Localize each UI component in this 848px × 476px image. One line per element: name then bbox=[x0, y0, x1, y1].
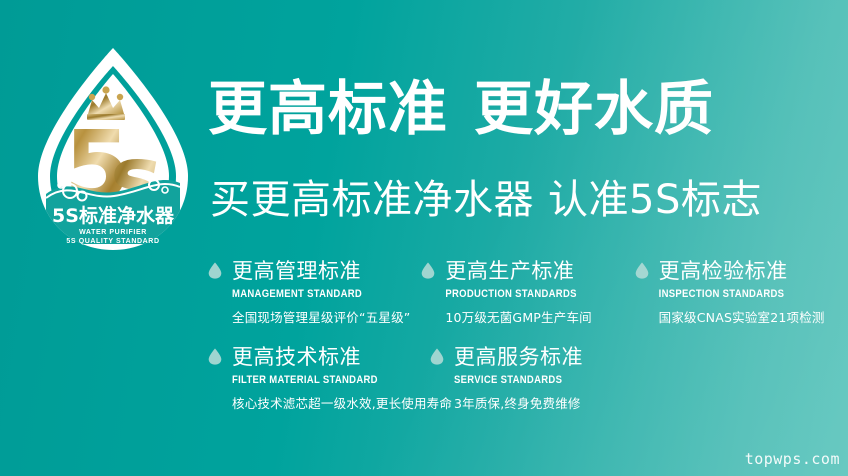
subheadline-part2: 认准5S标志 bbox=[548, 177, 762, 223]
feature-subtitle: INSPECTION STANDARDS bbox=[659, 288, 844, 300]
feature-title: 更高技术标准 bbox=[232, 341, 361, 371]
feature-item-inspection: 更高检验标准 INSPECTION STANDARDS 国家级CNAS实验室21… bbox=[635, 256, 848, 326]
feature-subtitle: MANAGEMENT STANDARD bbox=[232, 288, 417, 300]
feature-description: 全国现场管理星级评价“五星级” bbox=[232, 307, 417, 326]
feature-item-management: 更高管理标准 MANAGEMENT STANDARD 全国现场管理星级评价“五星… bbox=[208, 256, 421, 326]
water-drop-bullet-icon bbox=[430, 348, 444, 365]
feature-title: 更高生产标准 bbox=[445, 255, 574, 285]
subheadline: 买更高标准净水器认准5S标志 bbox=[210, 180, 762, 220]
headline-part2: 更好水质 bbox=[474, 74, 714, 143]
feature-subtitle: SERVICE STANDARDS bbox=[454, 374, 642, 386]
water-drop-shield-icon: 5 s 5S标准净水器 WATER PURIFIER 5S QUALITY ST… bbox=[18, 44, 208, 256]
brand-logo: 5 s 5S标准净水器 WATER PURIFIER 5S QUALITY ST… bbox=[18, 44, 208, 256]
feature-head: 更高技术标准 bbox=[208, 342, 426, 370]
feature-row-2: 更高技术标准 FILTER MATERIAL STANDARD 核心技术滤芯超一… bbox=[208, 342, 848, 412]
feature-description: 10万级无菌GMP生产车间 bbox=[445, 307, 630, 326]
feature-head: 更高管理标准 bbox=[208, 256, 417, 284]
feature-subtitle: FILTER MATERIAL STANDARD bbox=[232, 374, 426, 386]
feature-description: 3年质保,终身免费维修 bbox=[454, 393, 642, 412]
feature-head: 更高检验标准 bbox=[635, 256, 844, 284]
feature-subtitle: PRODUCTION STANDARDS bbox=[445, 288, 630, 300]
feature-description: 核心技术滤芯超一级水效,更长使用寿命 bbox=[232, 393, 426, 412]
headline-part1: 更高标准 bbox=[208, 74, 448, 143]
logo-brand-en-2: 5S QUALITY STANDARD bbox=[66, 238, 159, 245]
feature-head: 更高服务标准 bbox=[430, 342, 642, 370]
feature-item-technology: 更高技术标准 FILTER MATERIAL STANDARD 核心技术滤芯超一… bbox=[208, 342, 430, 412]
feature-head: 更高生产标准 bbox=[421, 256, 630, 284]
feature-title: 更高服务标准 bbox=[454, 341, 583, 371]
feature-title: 更高检验标准 bbox=[659, 255, 788, 285]
headline: 更高标准更好水质 bbox=[208, 79, 714, 138]
watermark: topwps.com bbox=[745, 450, 840, 468]
water-drop-bullet-icon bbox=[208, 348, 222, 365]
subheadline-part1: 买更高标准净水器 bbox=[210, 177, 534, 223]
water-drop-bullet-icon bbox=[635, 262, 649, 279]
feature-item-service: 更高服务标准 SERVICE STANDARDS 3年质保,终身免费维修 bbox=[430, 342, 646, 412]
feature-row-1: 更高管理标准 MANAGEMENT STANDARD 全国现场管理星级评价“五星… bbox=[208, 256, 848, 326]
feature-title: 更高管理标准 bbox=[232, 255, 361, 285]
promo-banner: 5 s 5S标准净水器 WATER PURIFIER 5S QUALITY ST… bbox=[0, 0, 848, 476]
water-drop-bullet-icon bbox=[208, 262, 222, 279]
feature-description: 国家级CNAS实验室21项检测 bbox=[659, 307, 844, 326]
logo-brand-en-1: WATER PURIFIER bbox=[79, 229, 147, 236]
logo-brand-cn: 5S标准净水器 bbox=[52, 204, 175, 227]
feature-item-production: 更高生产标准 PRODUCTION STANDARDS 10万级无菌GMP生产车… bbox=[421, 256, 634, 326]
water-drop-bullet-icon bbox=[421, 262, 435, 279]
feature-list: 更高管理标准 MANAGEMENT STANDARD 全国现场管理星级评价“五星… bbox=[208, 256, 848, 412]
